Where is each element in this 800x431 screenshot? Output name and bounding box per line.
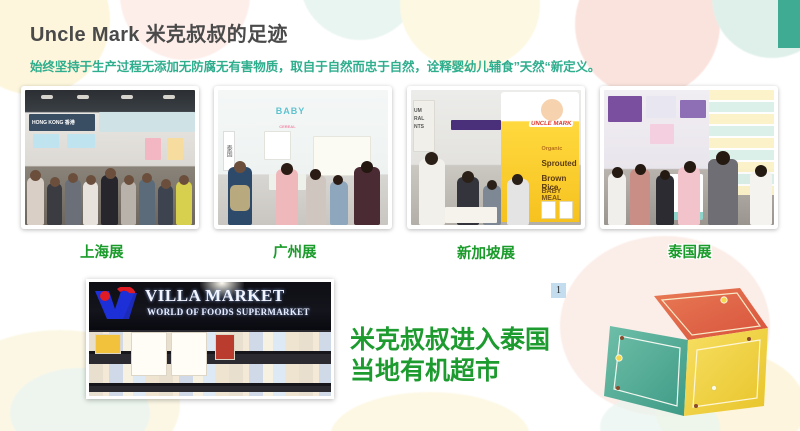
photo-sign-booth-left2: RAL bbox=[414, 116, 424, 122]
caption-thailand: 泰国展 bbox=[668, 241, 712, 262]
bottom-headline-line1: 米克叔叔进入泰国 bbox=[350, 325, 550, 356]
photo-card-singapore[interactable]: UM RAL NTS UNCLE MARK Organic Sprouted B… bbox=[407, 86, 585, 229]
villa-market-logo-icon bbox=[93, 287, 145, 321]
photo-card-shanghai[interactable]: HONG KONG 香港 bbox=[21, 86, 199, 229]
page-number-badge: 1 bbox=[551, 283, 566, 298]
caption-guangzhou: 广州展 bbox=[273, 241, 317, 262]
photo-image-guangzhou: 泰国 BABY CEREAL bbox=[218, 90, 388, 225]
blob-yellow-top-left bbox=[0, 0, 110, 95]
caption-singapore: 新加坡展 bbox=[457, 242, 515, 263]
villa-market-tagline: WORLD OF FOODS SUPERMARKET bbox=[147, 307, 310, 317]
photo-sign-unclemark: UNCLE MARK bbox=[528, 121, 573, 127]
watercolor-cube-icon bbox=[592, 288, 800, 431]
photo-sign-booth-left3: NTS bbox=[414, 124, 424, 130]
photo-image-singapore: UM RAL NTS UNCLE MARK Organic Sprouted B… bbox=[411, 90, 581, 225]
photo-card-guangzhou[interactable]: 泰国 BABY CEREAL bbox=[214, 86, 392, 229]
photo-image-shanghai: HONG KONG 香港 bbox=[25, 90, 195, 225]
bottom-headline-line2: 当地有机超市 bbox=[350, 356, 550, 387]
photo-image-villa-market: VILLA MARKET WORLD OF FOODS SUPERMARKET bbox=[89, 282, 331, 396]
teal-corner-bar bbox=[778, 0, 800, 48]
exhibition-photo-row: HONG KONG 香港 bbox=[0, 86, 800, 231]
villa-market-brand: VILLA MARKET bbox=[145, 287, 285, 305]
photo-sign-cereal: CEREAL bbox=[279, 124, 295, 129]
caption-shanghai: 上海展 bbox=[80, 241, 124, 262]
slide-page: Uncle Mark 米克叔叔的足迹 始终坚持于生产过程无添加无防腐无有害物质，… bbox=[0, 0, 800, 431]
photo-sign-baby: BABY bbox=[276, 106, 306, 116]
blob-teal-top-middle bbox=[300, 0, 420, 40]
photo-sign-booth-left: UM bbox=[414, 108, 422, 114]
photo-sign-hongkong: HONG KONG 香港 bbox=[32, 119, 75, 126]
blob-yellow-bottom-middle bbox=[330, 392, 530, 431]
bottom-headline: 米克叔叔进入泰国 当地有机超市 bbox=[350, 325, 550, 387]
photo-card-villa-market[interactable]: VILLA MARKET WORLD OF FOODS SUPERMARKET bbox=[86, 279, 334, 399]
blob-pink-top-right bbox=[575, 0, 720, 97]
photo-image-thailand bbox=[604, 90, 774, 225]
page-title: Uncle Mark 米克叔叔的足迹 bbox=[30, 18, 288, 47]
photo-card-thailand[interactable] bbox=[600, 86, 778, 229]
page-subtitle: 始终坚持于生产过程无添加无防腐无有害物质，取自于自然而忠于自然，诠释婴幼儿辅食”… bbox=[30, 56, 600, 75]
